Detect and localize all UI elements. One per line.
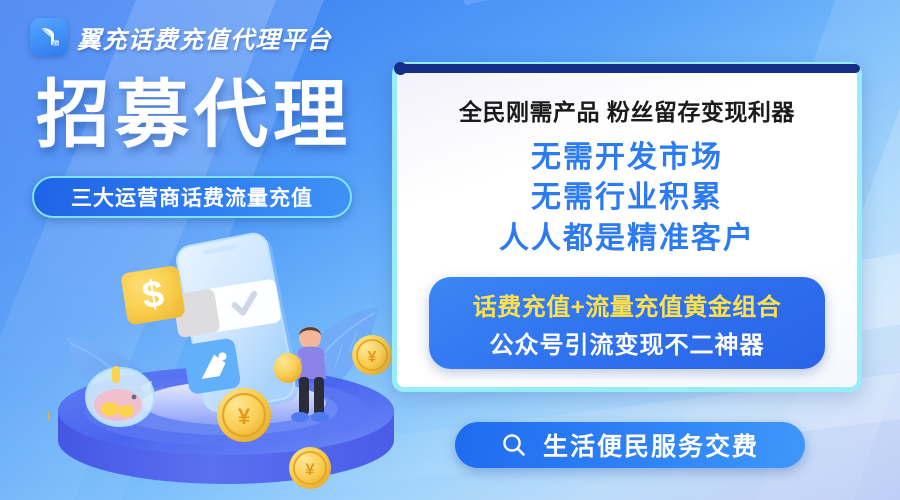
smartphone — [174, 230, 301, 417]
card-point: 人人都是精准客户 — [499, 220, 755, 258]
brand-header: 翼充 翼充话费充值代理平台 — [30, 18, 332, 56]
podium — [58, 367, 394, 484]
hero-badge: 三大运营商话费流量充值 — [32, 176, 352, 218]
cta-button[interactable]: 生活便民服务交费 — [455, 422, 805, 468]
highlight-line-2: 公众号引流变现不二神器 — [490, 325, 765, 360]
page-title: 招募代理 — [36, 78, 352, 152]
illustration-svg: $ — [48, 225, 418, 500]
hero-badge-label: 三大运营商话费流量充值 — [71, 182, 313, 212]
card-lead-text: 全民刚需产品 粉丝留存变现利器 — [459, 93, 795, 127]
brand-logo: 翼充 — [30, 18, 68, 56]
dollar-card: $ — [120, 265, 185, 325]
cta-label: 生活便民服务交费 — [543, 427, 759, 463]
leaf-right — [276, 307, 378, 407]
card-top-bar — [398, 64, 860, 73]
piggy-bank — [86, 366, 154, 426]
card-points-list: 无需开发市场 无需行业积累 人人都是精准客户 — [499, 139, 755, 258]
hero-headline: 招募代理 — [36, 78, 352, 152]
leaf-left — [66, 337, 176, 427]
arrow-card — [182, 337, 241, 395]
highlight-line-1: 话费充值+流量充值黄金组合 — [473, 287, 782, 322]
card-point: 无需开发市场 — [531, 139, 723, 177]
podium-glow — [142, 381, 326, 425]
highlight-box: 话费充值+流量充值黄金组合 公众号引流变现不二神器 — [429, 277, 825, 369]
card-top-bar-knob — [394, 62, 407, 75]
checkmark-card — [172, 278, 282, 338]
promo-banner: 翼充 翼充话费充值代理平台 招募代理 三大运营商话费流量充值 — [0, 0, 900, 500]
brand-title: 翼充话费充值代理平台 — [77, 20, 332, 55]
svg-text:翼充: 翼充 — [52, 41, 60, 46]
search-icon — [501, 432, 527, 458]
svg-text:$: $ — [139, 273, 166, 318]
wing-y-logo-icon: 翼充 — [36, 24, 62, 50]
info-card: 全民刚需产品 粉丝留存变现利器 无需开发市场 无需行业积累 人人都是精准客户 话… — [392, 62, 862, 392]
card-point: 无需行业积累 — [531, 179, 723, 217]
walking-person — [274, 327, 329, 422]
svg-text:¥: ¥ — [368, 349, 377, 366]
svg-text:¥: ¥ — [305, 460, 315, 479]
hero-illustration: $ — [48, 225, 418, 500]
coin-stack: ¥ ¥ ¥ ¥ — [48, 335, 392, 489]
svg-text:¥: ¥ — [238, 404, 251, 429]
